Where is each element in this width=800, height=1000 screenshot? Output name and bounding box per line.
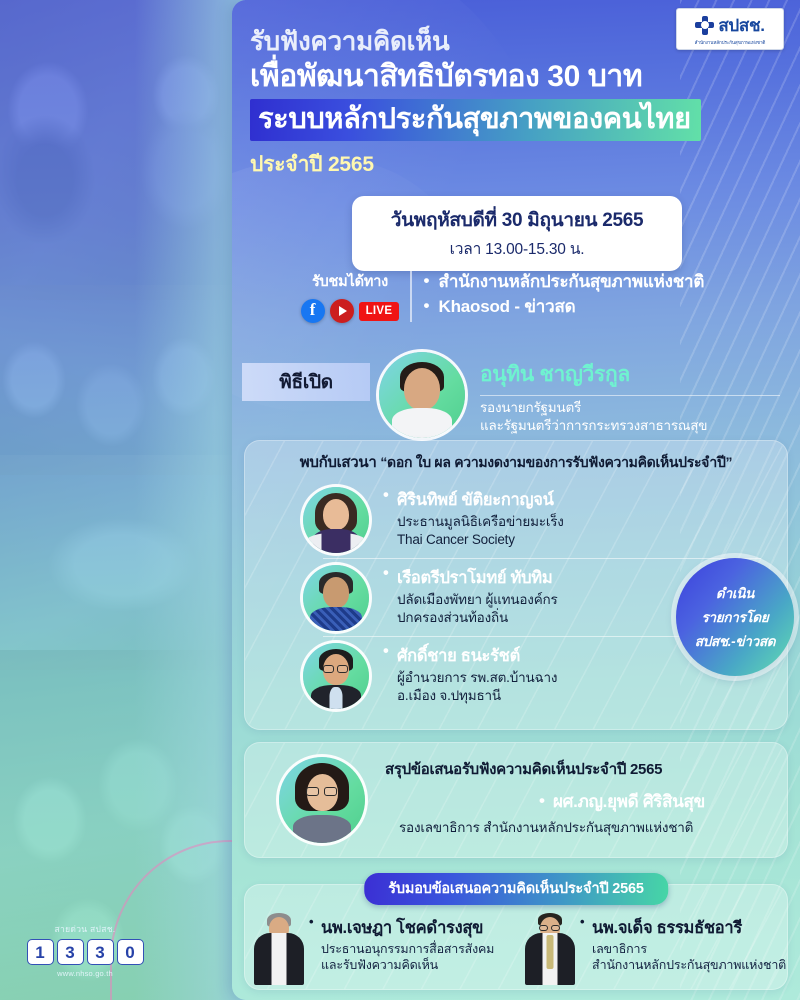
handover-person: นพ.จเด็จ ธรรมธัชอารี เลขาธิการ สำนักงานห… <box>516 909 787 985</box>
moderator-line-3: สปสช.-ข่าวสด <box>695 630 776 652</box>
event-time: เวลา 13.00-15.30 น. <box>362 236 672 261</box>
figure-person-1 <box>253 911 305 985</box>
avatar-speaker-3 <box>303 643 369 709</box>
figure-person-2 <box>524 911 576 985</box>
glasses-icon <box>324 787 337 796</box>
title-line-1: รับฟังความคิดเห็น <box>250 26 770 57</box>
head <box>404 368 440 410</box>
discussion-heading-prefix: พบกับเสวนา <box>300 454 377 471</box>
glasses-icon <box>337 665 348 673</box>
handover-name: นพ.จเด็จ ธรรมธัชอารี <box>580 915 786 941</box>
handover-role-1: เลขาธิการ <box>580 941 786 957</box>
handover-role-2: และรับฟังความคิดเห็น <box>309 957 494 973</box>
title-line-3: ระบบหลักประกันสุขภาพของคนไทย <box>258 102 691 137</box>
hotline-digit: 0 <box>117 939 144 965</box>
moderator-badge: ดำเนิน รายการโดย สปสช.-ข่าวสด <box>676 558 794 676</box>
opening-speaker-role-1: รองนายกรัฐมนตรี <box>480 399 780 417</box>
head <box>323 577 349 608</box>
speaker-role-1: ประธานมูลนิธิเครือข่ายมะเร็ง <box>383 513 564 531</box>
broadcast-left: รับชมได้ทาง f LIVE <box>290 268 410 323</box>
speaker-role-1: ปลัดเมืองพัทยา ผู้แทนองค์กร <box>383 591 558 609</box>
hotline-website[interactable]: www.nhso.go.th <box>20 969 150 978</box>
event-date-box: วันพฤหัสบดีที่ 30 มิถุนายน 2565 เวลา 13.… <box>352 196 682 271</box>
glasses-icon <box>551 925 560 931</box>
opening-badge-label: พิธีเปิด <box>279 367 333 397</box>
handover-info: นพ.จเด็จ ธรรมธัชอารี เลขาธิการ สำนักงานห… <box>576 909 786 974</box>
summary-speaker-role: รองเลขาธิการ สำนักงานหลักประกันสุขภาพแห่… <box>399 815 787 838</box>
broadcast-channels: สำนักงานหลักประกันสุขภาพแห่งชาติ Khaosod… <box>424 268 781 319</box>
glasses-icon <box>323 665 334 673</box>
head <box>323 499 349 530</box>
broadcast-label: รับชมได้ทาง <box>290 270 410 293</box>
torso <box>392 408 452 438</box>
torso <box>293 815 351 843</box>
broadcast-section: รับชมได้ทาง f LIVE สำนักงานหลักประกันสุข… <box>290 268 780 323</box>
hotline-digit: 3 <box>87 939 114 965</box>
poster-title: รับฟังความคิดเห็น เพื่อพัฒนาสิทธิบัตรทอง… <box>250 26 770 181</box>
divider <box>480 395 780 396</box>
speaker-role-2: ปกครองส่วนท้องถิ่น <box>383 609 558 627</box>
summary-speaker-name: ผศ.ภญ.ยุพดี ศิริสินสุข <box>539 792 705 811</box>
speaker-info: เรือตรีปราโมทย์ ทับทิม ปลัดเมืองพัทยา ผู… <box>383 563 558 627</box>
title-highlight-band: ระบบหลักประกันสุขภาพของคนไทย <box>250 99 701 141</box>
opening-speaker-name: อนุทิน ชาญวีรกูล <box>480 358 780 391</box>
handover-people: นพ.เจษฎา โชคดำรงสุข ประธานอนุกรรมการสื่อ… <box>245 885 787 985</box>
hotline-digits: 1 3 3 0 <box>20 939 150 965</box>
speaker-role-2: Thai Cancer Society <box>383 531 564 549</box>
summary-title: สรุปข้อเสนอรับฟังความคิดเห็นประจำปี 2565 <box>385 743 787 781</box>
handover-info: นพ.เจษฎา โชคดำรงสุข ประธานอนุกรรมการสื่อ… <box>305 909 494 974</box>
avatar-minister <box>379 352 465 438</box>
shirt <box>330 687 343 709</box>
hotline-digit: 3 <box>57 939 84 965</box>
speaker-info: ศักดิ์ชาย ธนะรัชต์ ผู้อำนวยการ รพ.สต.บ้า… <box>383 641 557 705</box>
opening-badge: พิธีเปิด <box>242 363 370 401</box>
main-panel: สปสช. สำนักงานหลักประกันสุขภาพแห่งชาติ ร… <box>232 0 800 1000</box>
avatar-speaker-1 <box>303 487 369 553</box>
avatar-summary-speaker <box>279 757 365 843</box>
speaker-row: ศิรินทิพย์ ขัติยะกาญจน์ ประธานมูลนิธิเคร… <box>245 480 787 558</box>
hotline-label: สายด่วน สปสช. <box>20 922 150 936</box>
speaker-name: ศักดิ์ชาย ธนะรัชต์ <box>383 643 557 669</box>
handover-person: นพ.เจษฎา โชคดำรงสุข ประธานอนุกรรมการสื่อ… <box>245 909 516 985</box>
social-icons: f LIVE <box>290 299 410 323</box>
handover-role-2: สำนักงานหลักประกันสุขภาพแห่งชาติ <box>580 957 786 973</box>
speaker-name: ศิรินทิพย์ ขัติยะกาญจน์ <box>383 487 564 513</box>
hotline-digit: 1 <box>27 939 54 965</box>
moderator-line-1: ดำเนิน <box>716 582 754 604</box>
speaker-role-1: ผู้อำนวยการ รพ.สต.บ้านฉาง <box>383 669 557 687</box>
title-line-2: เพื่อพัฒนาสิทธิบัตรทอง 30 บาท <box>250 58 770 95</box>
photo-collage-strip: สายด่วน สปสช. 1 3 3 0 www.nhso.go.th <box>0 0 245 1000</box>
summary-card: สรุปข้อเสนอรับฟังความคิดเห็นประจำปี 2565… <box>244 742 788 858</box>
play-triangle-icon <box>339 306 347 316</box>
title-line-4: ประจำปี 2565 <box>250 148 770 181</box>
live-badge: LIVE <box>359 302 400 321</box>
speaker-info: ศิรินทิพย์ ขัติยะกาญจน์ ประธานมูลนิธิเคร… <box>383 485 564 549</box>
facebook-icon[interactable]: f <box>301 299 325 323</box>
summary-name-row: ผศ.ภญ.ยุพดี ศิริสินสุข <box>385 781 787 815</box>
handover-name: นพ.เจษฎา โชคดำรงสุข <box>309 915 494 941</box>
necktie <box>547 935 554 969</box>
speaker-name: เรือตรีปราโมทย์ ทับทิม <box>383 565 558 591</box>
discussion-heading: พบกับเสวนา “ดอก ใบ ผล ความงดงามของการรับ… <box>245 441 787 474</box>
event-date: วันพฤหัสบดีที่ 30 มิถุนายน 2565 <box>362 205 672 235</box>
broadcast-channel: Khaosod - ข่าวสด <box>424 294 781 319</box>
suit <box>525 933 575 985</box>
broadcast-channel: สำนักงานหลักประกันสุขภาพแห่งชาติ <box>424 269 781 294</box>
torso <box>310 607 362 631</box>
handover-role-1: ประธานอนุกรรมการสื่อสารสังคม <box>309 941 494 957</box>
youtube-icon[interactable] <box>330 299 354 323</box>
avatar-speaker-2 <box>303 565 369 631</box>
glasses-icon <box>306 787 319 796</box>
opening-ceremony-section: พิธีเปิด อนุทิน ชาญวีรกูล รองนายกรัฐมนตร… <box>242 350 790 442</box>
moderator-line-2: รายการโดย <box>702 606 769 628</box>
jacket <box>306 533 366 553</box>
logo-dot <box>701 21 709 29</box>
speaker-role-2: อ.เมือง จ.ปทุมธานี <box>383 687 557 705</box>
opening-speaker: อนุทิน ชาญวีรกูล รองนายกรัฐมนตรี และรัฐม… <box>480 358 780 435</box>
vertical-divider <box>410 270 412 322</box>
opening-speaker-role-2: และรัฐมนตรีว่าการกระทรวงสาธารณสุข <box>480 417 780 435</box>
glasses-icon <box>539 925 548 931</box>
poster-root: สายด่วน สปสช. 1 3 3 0 www.nhso.go.th สปส… <box>0 0 800 1000</box>
handover-card: รับมอบข้อเสนอความคิดเห็นประจำปี 2565 นพ.… <box>244 884 788 990</box>
suit <box>254 933 304 985</box>
discussion-heading-quote: “ดอก ใบ ผล ความงดงามของการรับฟังความคิดเ… <box>380 454 732 470</box>
hotline-badge: สายด่วน สปสช. 1 3 3 0 www.nhso.go.th <box>20 922 150 978</box>
